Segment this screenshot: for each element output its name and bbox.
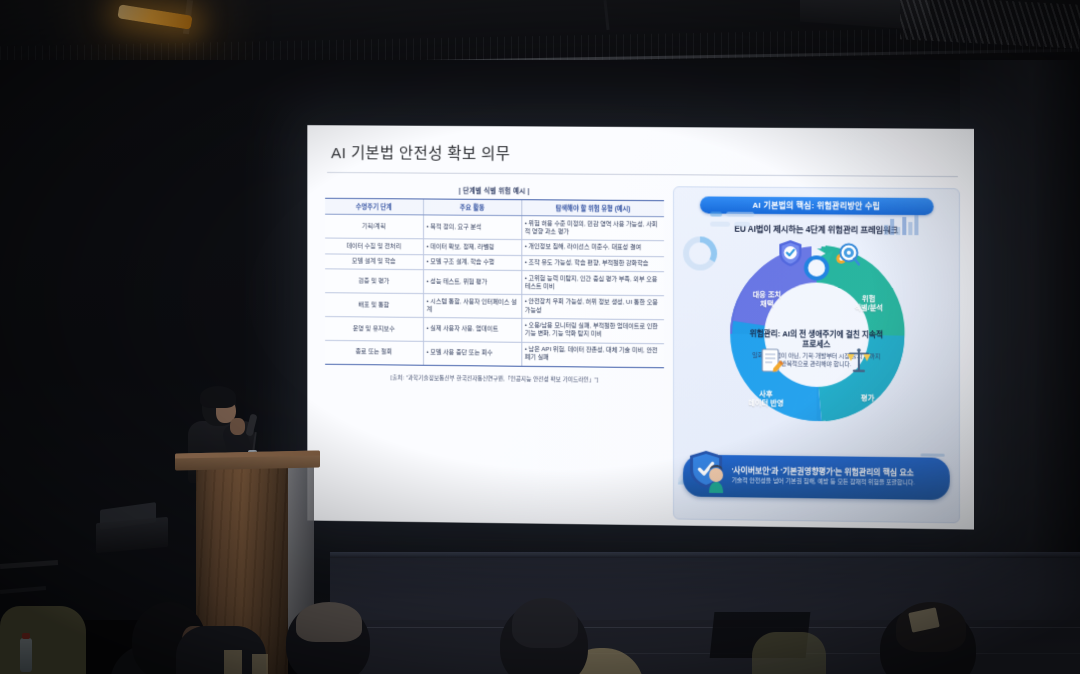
cell-stage: 데이터 수집 및 전처리 [325, 238, 423, 254]
presenter-hand [230, 418, 245, 435]
cell-stage: 운영 및 유지보수 [325, 317, 423, 342]
chair [0, 606, 86, 674]
bar-chart-deco-right [884, 215, 918, 235]
cell-activity: • 데이터 확보, 정제, 라벨링 [423, 239, 521, 255]
laptop [96, 517, 168, 553]
document-pencil-icon [759, 347, 785, 375]
cell-activity: • 모델 사용 중단 또는 회수 [423, 341, 521, 366]
risk-cycle-diagram: 위험관리: AI의 전 생애주기에 걸친 지속적 프로세스 일회성 점검이 아닌… [681, 238, 951, 453]
scales-icon [845, 346, 871, 374]
source-citation: [출처: "과학기술정보통신부 한국전자통신연구원,「인공지능 안전성 확보 가… [325, 372, 664, 384]
table-row: 검증 및 평가 • 성능 테스트, 위험 평가 • 고위험 능력 미탐지, 인간… [325, 269, 664, 296]
cell-activity: • 목적 정의, 요구 분석 [423, 215, 521, 239]
quadrant-label-response: 대응 조치채택 [739, 290, 795, 309]
cell-risks: • 위험 허용 수준 미정의, 민감 영역 사용 가능성, 사회적 영향 과소 … [521, 216, 664, 241]
lifecycle-risk-table: 수명주기 단계 주요 활동 탐색해야 할 위험 유형 (예시) 기획/계획 • … [325, 198, 664, 368]
cell-risks: • 조작 유도 가능성, 학습 편향, 부적절한 강화학습 [521, 255, 664, 272]
cell-risks: • 개인정보 침해, 라이선스 미준수, 대표성 결여 [521, 240, 664, 257]
bar-chart-deco-left [711, 210, 757, 232]
chair [752, 632, 826, 674]
cell-stage: 기획/계획 [325, 215, 423, 239]
risk-framework-card: AI 기본법의 핵심: 위험관리방안 수립 EU AI법이 제시하는 4단계 위… [673, 186, 959, 523]
quadrant-label-identify: 위험식별/분석 [839, 294, 898, 313]
cell-stage: 모델 설계 및 학습 [325, 254, 423, 270]
table-row: 운영 및 유지보수 • 실제 사용자 사용, 업데이트 • 오용/남용 모니터링… [325, 317, 664, 344]
stage-edge [330, 552, 1080, 558]
cell-risks: • 남은 API 위험, 데이터 잔존성, 대체 기술 미비, 안전 폐기 실패 [521, 342, 664, 367]
cell-stage: 종료 또는 철회 [325, 340, 423, 365]
table-row: 배포 및 통합 • 시스템 통합, 사용자 인터페이스 설계 • 안전장치 우회… [325, 293, 664, 320]
projection-screen: AI 기본법 안전성 확보 의무 | 단계별 식별 위험 예시 | 수명주기 단… [307, 125, 974, 529]
table-row: 종료 또는 철회 • 모델 사용 중단 또는 회수 • 남은 API 위험, 데… [325, 340, 664, 367]
paper-cup [252, 654, 268, 674]
audience-hair [296, 602, 362, 642]
col-header-risks: 탐색해야 할 위험 유형 (예시) [521, 200, 664, 217]
side-wall [960, 60, 1080, 620]
paper-cup [224, 650, 242, 674]
cell-activity: • 성능 테스트, 위험 평가 [423, 270, 521, 295]
bottle-cap [22, 633, 30, 639]
audience-hair [512, 598, 578, 648]
cell-risks: • 오용/남용 모니터링 실패, 부적절한 업데이트로 인한 기능 변화, 기능… [521, 318, 664, 343]
auditorium-scene: AI 기본법 안전성 확보 의무 | 단계별 식별 위험 예시 | 수명주기 단… [0, 0, 1080, 674]
key-elements-callout: '사이버보안'과 '기본권영향평가'는 위험관리의 핵심 요소 기술적 안전성을… [683, 455, 949, 500]
quadrant-label-evaluate: 평가 [843, 393, 891, 403]
gear-magnifier-icon [833, 242, 859, 270]
quadrant-label-feedback: 사후데이터 반영 [735, 389, 797, 408]
callout-line-2: 기술적 안전성을 넘어 기본권 침해, 예방 등 모든 잠재적 위험을 포괄합니… [732, 478, 916, 488]
shield-person-icon [689, 449, 731, 496]
slide: AI 기본법 안전성 확보 의무 | 단계별 식별 위험 예시 | 수명주기 단… [307, 125, 974, 529]
cell-activity: • 실제 사용자 사용, 업데이트 [423, 317, 521, 342]
cell-risks: • 안전장치 우회 가능성, 허위 정보 생성, UI 통한 오용 가능성 [521, 295, 664, 320]
water-bottle-table [20, 638, 32, 672]
shield-check-icon [777, 239, 803, 267]
col-header-stage: 수명주기 단계 [325, 198, 423, 215]
cell-stage: 검증 및 평가 [325, 269, 423, 294]
cell-risks: • 고위험 능력 미탐지, 인간 중심 평가 부족, 외부 오용 테스트 미비 [521, 271, 664, 296]
callout-line-1: '사이버보안'과 '기본권영향평가'는 위험관리의 핵심 요소 [732, 466, 916, 478]
title-divider [327, 172, 958, 177]
presenter-hair [200, 386, 236, 408]
left-panel: | 단계별 식별 위험 예시 | 수명주기 단계 주요 활동 탐색해야 할 위험… [325, 184, 664, 519]
cell-activity: • 시스템 통합, 사용자 인터페이스 설계 [423, 294, 521, 319]
table-caption: | 단계별 식별 위험 예시 | [325, 184, 664, 196]
cell-stage: 배포 및 통합 [325, 293, 423, 318]
table-row: 기획/계획 • 목적 정의, 요구 분석 • 위험 허용 수준 미정의, 민감 … [325, 215, 664, 241]
cycle-ring-icon [804, 255, 829, 280]
cell-activity: • 모델 구조 설계, 학습 수행 [423, 255, 521, 271]
col-header-activity: 주요 활동 [423, 199, 521, 216]
right-panel: AI 기본법의 핵심: 위험관리방안 수립 EU AI법이 제시하는 4단계 위… [673, 186, 959, 523]
slide-title: AI 기본법 안전성 확보 의무 [331, 141, 960, 167]
